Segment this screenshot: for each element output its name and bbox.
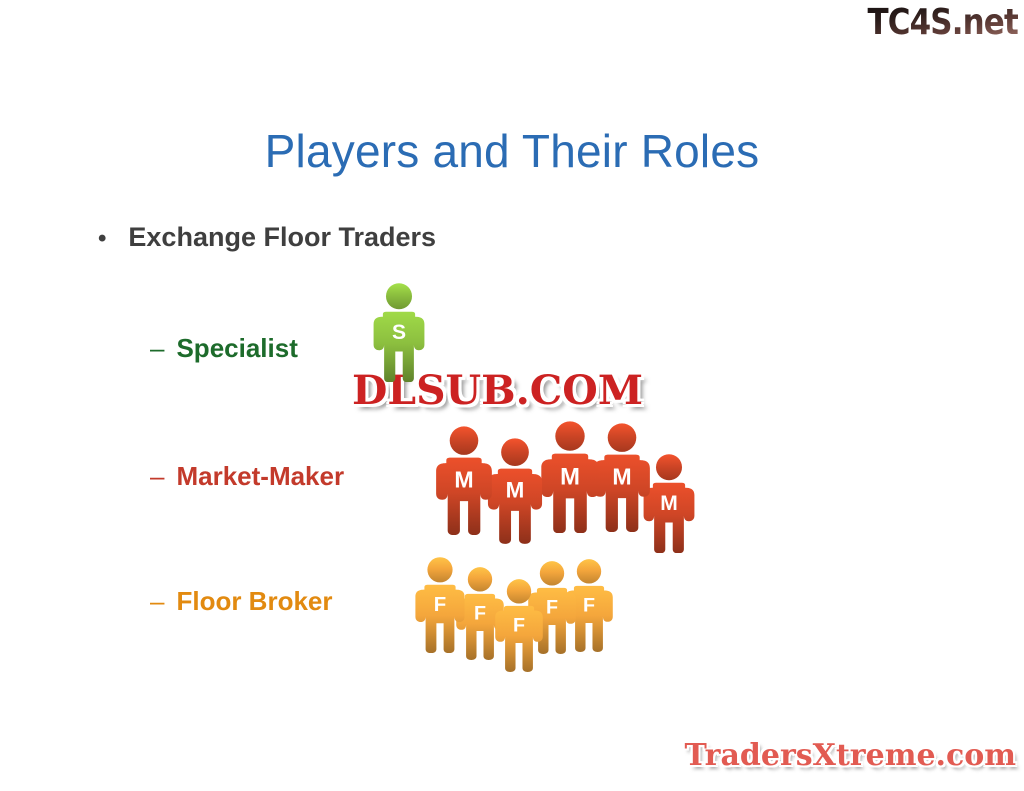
svg-text:M: M: [454, 467, 473, 493]
svg-text:S: S: [392, 321, 406, 344]
bullet-exchange-floor-traders: • Exchange Floor Traders: [98, 222, 436, 253]
subitem-floor-broker: – Floor Broker: [150, 586, 333, 617]
subitem-label: Floor Broker: [176, 586, 332, 617]
bullet-dot-icon: •: [98, 227, 106, 251]
svg-text:F: F: [474, 602, 486, 624]
svg-text:M: M: [506, 478, 525, 503]
svg-text:M: M: [660, 492, 678, 515]
slide-canvas: TC4S.net Players and Their Roles • Excha…: [0, 0, 1024, 791]
person-icon-f: F: [410, 556, 470, 658]
svg-text:F: F: [434, 594, 446, 616]
subitem-specialist: – Specialist: [150, 333, 298, 364]
dash-icon: –: [150, 461, 164, 492]
subitem-label: Specialist: [176, 333, 297, 364]
subitem-label: Market-Maker: [176, 461, 344, 492]
svg-text:F: F: [583, 594, 595, 616]
person-icon-m: M: [430, 425, 498, 540]
dash-icon: –: [150, 586, 164, 617]
bullet-label: Exchange Floor Traders: [128, 222, 436, 253]
svg-text:F: F: [513, 614, 525, 636]
svg-text:M: M: [612, 464, 631, 490]
svg-text:M: M: [560, 463, 580, 490]
dash-icon: –: [150, 333, 164, 364]
person-icon-s: S: [368, 282, 430, 387]
page-title: Players and Their Roles: [0, 124, 1024, 178]
brand-logo-tc4s: TC4S.net: [868, 2, 1018, 44]
watermark-tradersxtreme: TradersXtreme.com: [685, 738, 1016, 773]
subitem-market-maker: – Market-Maker: [150, 461, 344, 492]
person-icon-f: F: [490, 578, 548, 677]
